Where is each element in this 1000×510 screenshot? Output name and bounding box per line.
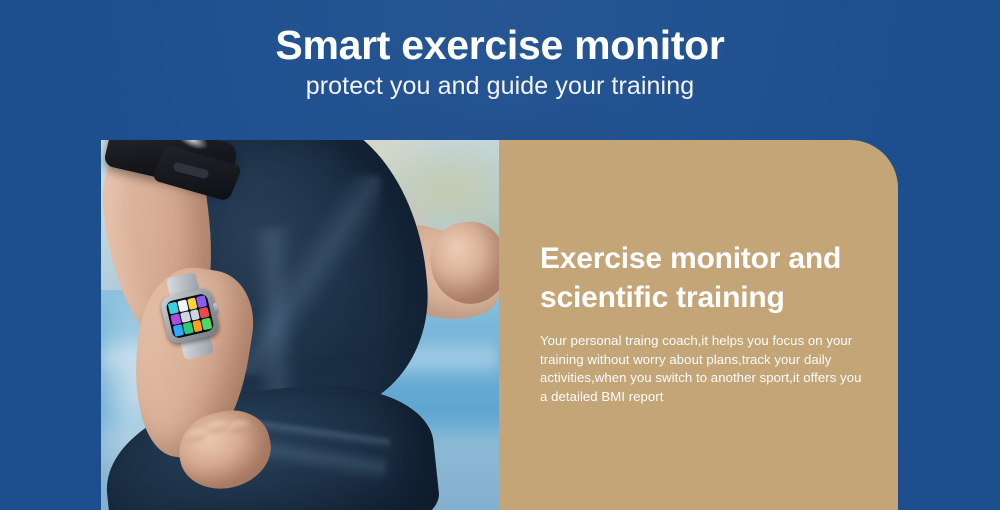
- watch-app-icon: [180, 311, 191, 323]
- page-subtitle: protect you and guide your training: [0, 70, 1000, 102]
- knuckle: [205, 419, 229, 435]
- watch-app-icon: [177, 300, 188, 312]
- watch-app-icon: [182, 322, 193, 334]
- feature-card: Exercise monitor and scientific training…: [101, 140, 898, 510]
- knuckle: [184, 427, 208, 443]
- watch-screen: [165, 293, 214, 339]
- info-panel: Exercise monitor and scientific training…: [499, 140, 898, 510]
- info-panel-content: Exercise monitor and scientific training…: [540, 239, 870, 406]
- banner-header: Smart exercise monitor protect you and g…: [0, 20, 1000, 102]
- page-title: Smart exercise monitor: [0, 20, 1000, 70]
- runner-photo: [101, 140, 499, 510]
- watch-app-icon: [199, 307, 210, 319]
- knuckle: [227, 418, 251, 434]
- info-heading: Exercise monitor and scientific training: [540, 239, 870, 317]
- watch-app-grid: [168, 295, 213, 337]
- watch-app-icon: [196, 295, 207, 307]
- promo-banner: Smart exercise monitor protect you and g…: [0, 0, 1000, 510]
- runner-figure: [101, 140, 499, 510]
- info-description: Your personal traing coach,it helps you …: [540, 332, 862, 406]
- watch-app-icon: [201, 318, 212, 330]
